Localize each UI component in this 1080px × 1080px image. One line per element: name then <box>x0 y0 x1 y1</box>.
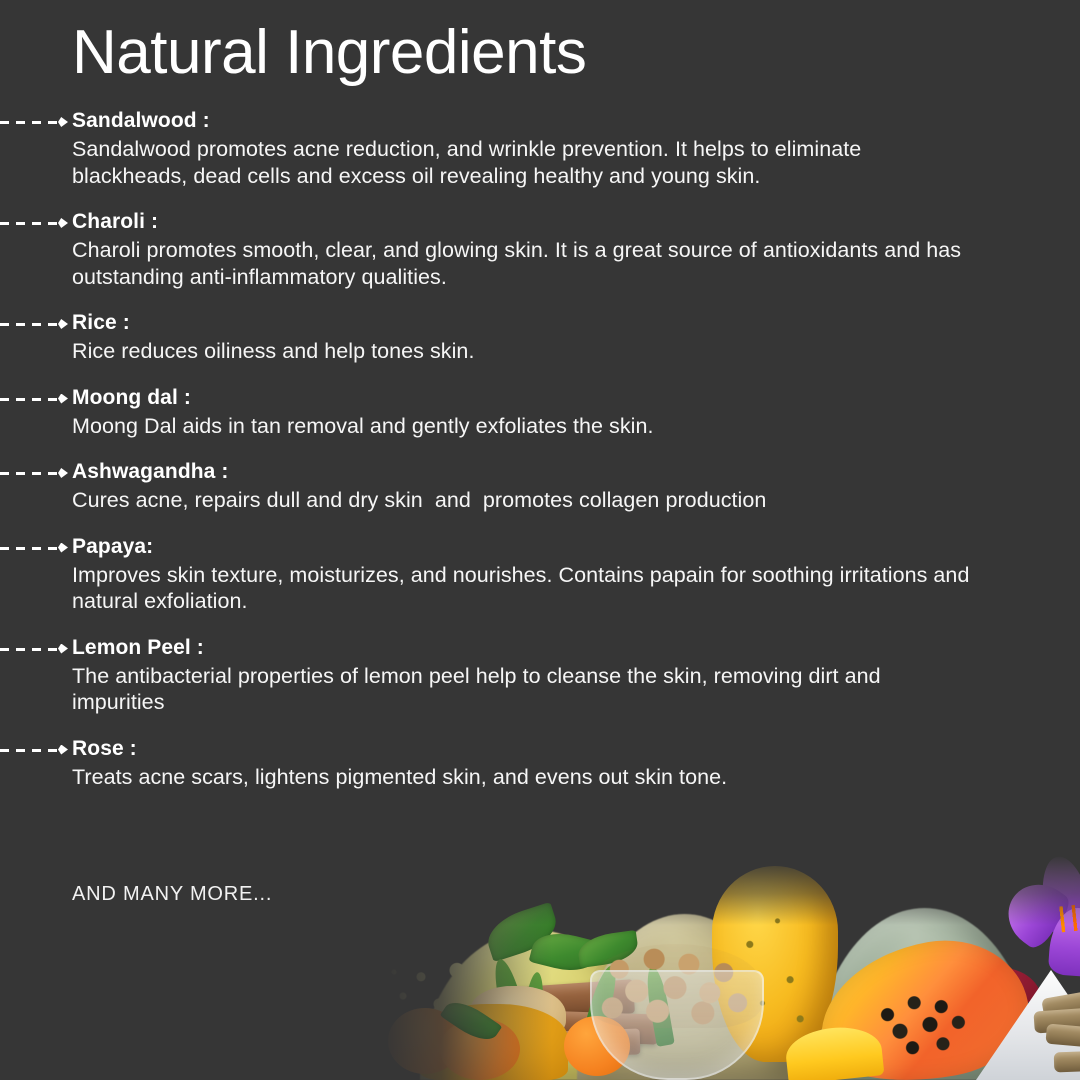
green-leaf-icon <box>440 994 503 1048</box>
papaya-seeds <box>861 980 989 1070</box>
ingredient-description: Sandalwood promotes acne reduction, and … <box>0 136 972 189</box>
ingredient-item: Rice : Rice reduces oiliness and help to… <box>0 310 1080 365</box>
ingredient-heading: Rice : <box>0 310 1080 336</box>
ingredient-description: Charoli promotes smooth, clear, and glow… <box>0 237 972 290</box>
ingredient-description: Treats acne scars, lightens pigmented sk… <box>0 764 972 791</box>
green-leaf-icon <box>529 927 602 978</box>
ingredient-item: Ashwagandha : Cures acne, repairs dull a… <box>0 459 1080 514</box>
ingredient-item: Papaya: Improves skin texture, moisturiz… <box>0 534 1080 615</box>
chickpeas-heap <box>588 944 762 1028</box>
page-title: Natural Ingredients <box>72 22 586 84</box>
licorice-stick <box>1045 1024 1080 1057</box>
sandalwood-log <box>508 1009 659 1044</box>
olive-powder-mound <box>577 914 792 1080</box>
licorice-stick <box>1041 973 1080 1021</box>
flower-petal <box>1073 857 1080 938</box>
sandalwood-log <box>550 1028 641 1057</box>
scattered-powder-specks <box>382 948 532 1028</box>
ingredient-list: Sandalwood : Sandalwood promotes acne re… <box>0 108 1080 790</box>
and-many-more-label: AND MANY MORE... <box>72 882 272 906</box>
sandalwood-log <box>493 979 635 1023</box>
lemon-wedge <box>784 1023 885 1080</box>
grass-blade-leaf <box>643 965 675 1047</box>
flower-petal <box>996 872 1075 953</box>
whole-papaya <box>712 866 838 1062</box>
ingredient-description: The antibacterial properties of lemon pe… <box>0 663 972 716</box>
green-clay-powder-mound <box>812 908 1037 1080</box>
saffron-crocus-flower <box>994 856 1080 984</box>
orange-fruit <box>564 1016 630 1076</box>
ingredient-item: Moong dal : Moong Dal aids in tan remova… <box>0 385 1080 440</box>
halved-papaya <box>808 927 1038 1080</box>
licorice-stick <box>1054 1048 1080 1073</box>
ingredient-item: Lemon Peel : The antibacterial propertie… <box>0 635 1080 716</box>
red-powder-pile <box>962 968 1042 1002</box>
orange-fruit <box>388 1008 462 1074</box>
licorice-stick <box>1033 1000 1080 1033</box>
turmeric-root <box>470 986 566 1042</box>
ingredient-description: Cures acne, repairs dull and dry skin an… <box>0 487 972 514</box>
photo-left-fade <box>382 855 552 1080</box>
ingredient-heading: Rose : <box>0 736 1080 762</box>
ingredient-description: Rice reduces oiliness and help tones ski… <box>0 338 972 365</box>
ingredient-item: Sandalwood : Sandalwood promotes acne re… <box>0 108 1080 189</box>
green-leaf-icon <box>576 930 640 968</box>
grass-blade-leaf <box>520 971 547 1056</box>
ingredient-heading: Charoli : <box>0 209 1080 235</box>
poster-canvas: Natural Ingredients Sandalwood : Sandalw… <box>0 0 1080 1080</box>
ingredients-photo <box>382 855 1080 1080</box>
ingredient-heading: Papaya: <box>0 534 1080 560</box>
ingredient-description: Improves skin texture, moisturizes, and … <box>0 562 972 615</box>
ingredient-heading: Lemon Peel : <box>0 635 1080 661</box>
grass-blade-leaf <box>578 963 621 1053</box>
saffron-stigma <box>1055 901 1080 933</box>
turmeric-powder <box>418 1004 568 1080</box>
ingredient-item: Rose : Treats acne scars, lightens pigme… <box>0 736 1080 791</box>
ingredient-description: Moong Dal aids in tan removal and gently… <box>0 413 972 440</box>
orange-fruit <box>440 1018 520 1080</box>
flower-petal <box>1034 855 1080 938</box>
green-leaf-icon <box>482 902 563 962</box>
yellow-powder-mound <box>420 930 650 1080</box>
glass-bowl <box>590 970 764 1080</box>
ingredient-heading: Sandalwood : <box>0 108 1080 134</box>
ingredient-heading: Ashwagandha : <box>0 459 1080 485</box>
ingredient-heading: Moong dal : <box>0 385 1080 411</box>
grass-blade-leaf <box>489 957 533 1052</box>
white-clay-powder <box>976 970 1080 1080</box>
ingredient-item: Charoli : Charoli promotes smooth, clear… <box>0 209 1080 290</box>
flower-petal <box>1048 906 1080 978</box>
photo-top-fade <box>382 855 1080 925</box>
